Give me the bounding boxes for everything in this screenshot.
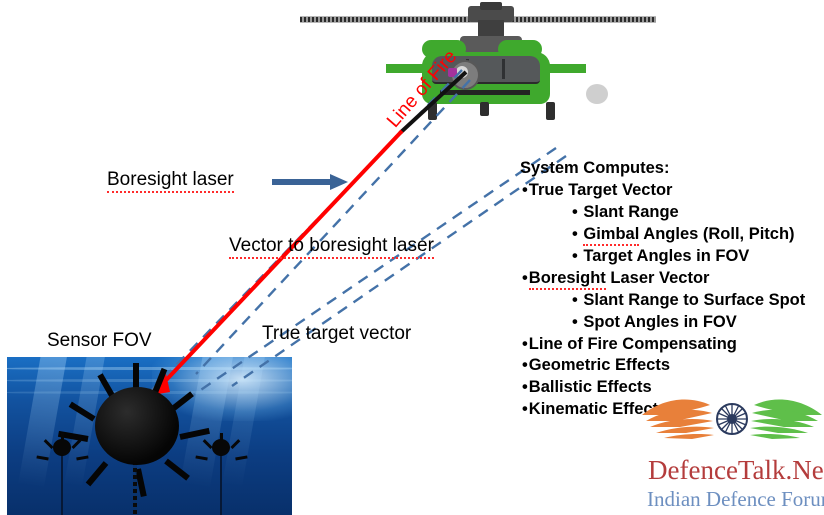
watermark-title: DefenceTalk.Net: [648, 455, 824, 486]
system-computes-item: • Target Angles in FOV: [520, 246, 824, 268]
bullet-icon: •: [522, 335, 528, 353]
fov-dashed-line-lower-far-right: [232, 156, 566, 386]
bullet-icon: •: [572, 291, 582, 309]
system-computes-item-label: Gimbal Angles (Roll, Pitch): [583, 225, 794, 246]
mine-tether: [220, 455, 222, 515]
landing-gear-right: [546, 102, 555, 120]
mine-spike: [86, 461, 109, 486]
bullet-icon: •: [572, 225, 582, 243]
system-computes-items: •True Target Vector• Slant Range• Gimbal…: [520, 180, 824, 421]
wing-left-icon: [642, 400, 714, 439]
bullet-icon: •: [522, 356, 528, 374]
bullet-icon: •: [572, 313, 582, 331]
system-computes-item: •Line of Fire Compensating: [520, 334, 824, 356]
indian-defence-forum-wings-chakra-logo: [640, 393, 824, 443]
system-computes-item-label: Geometric Effects: [529, 356, 670, 374]
landing-gear-center: [480, 102, 489, 116]
system-computes-heading: System Computes:: [520, 158, 824, 180]
system-computes-list: System Computes: •True Target Vector• Sl…: [520, 158, 824, 421]
system-computes-item: • Gimbal Angles (Roll, Pitch): [520, 224, 824, 246]
system-computes-item-label: Slant Range to Surface Spot: [583, 291, 805, 309]
bullet-icon: •: [522, 181, 528, 199]
label-sensor-fov: Sensor FOV: [47, 330, 152, 352]
watermark-subtitle: Indian Defence Forum: [647, 487, 824, 512]
system-computes-item-label: Target Angles in FOV: [583, 247, 749, 265]
system-computes-item-label: Spot Angles in FOV: [583, 313, 736, 331]
bullet-icon: •: [522, 378, 528, 396]
system-computes-item: •Boresight Laser Vector: [520, 268, 824, 290]
system-computes-item: •Geometric Effects: [520, 355, 824, 377]
ashoka-chakra-icon: [717, 404, 747, 434]
label-boresight-laser-text: Boresight laser: [107, 169, 234, 193]
water-ripple: [7, 367, 292, 370]
spellcheck-underlined-word: Gimbal: [583, 225, 639, 246]
system-computes-item: • Slant Range: [520, 202, 824, 224]
helicopter-illustration: [300, 2, 656, 124]
system-computes-item-label: Boresight Laser Vector: [529, 269, 710, 290]
system-computes-item-label: Ballistic Effects: [529, 378, 652, 396]
stub-wing-right: [548, 64, 586, 73]
label-boresight-laser: Boresight laser: [107, 169, 234, 191]
naval-mine-primary: [95, 387, 179, 465]
naval-mine-background-right: [212, 439, 230, 456]
system-computes-item-label: Slant Range: [583, 203, 678, 221]
label-vector-to-boresight-laser: Vector to boresight laser: [229, 235, 434, 257]
system-computes-item: • Slant Range to Surface Spot: [520, 290, 824, 312]
mine-tether: [61, 455, 63, 515]
naval-mine-background-left: [53, 439, 71, 456]
system-computes-item-label: Line of Fire Compensating: [529, 335, 737, 353]
landing-gear-left: [428, 102, 437, 120]
underwater-sensor-fov-photo: [7, 357, 292, 515]
bullet-icon: •: [572, 203, 582, 221]
stub-wing-left: [386, 64, 424, 73]
label-true-target-vector: True target vector: [262, 323, 411, 345]
sensor-lens: [456, 66, 468, 78]
mine-mooring-chain: [133, 461, 137, 515]
boresight-callout-arrowhead: [330, 174, 348, 190]
system-computes-item-label: True Target Vector: [529, 181, 673, 199]
nose-trim: [440, 90, 530, 95]
label-vector-to-boresight-laser-text: Vector to boresight laser: [229, 235, 434, 259]
diagram-canvas: Boresight laser Vector to boresight lase…: [0, 0, 824, 515]
spellcheck-underlined-word: Boresight: [529, 269, 606, 290]
bullet-icon: •: [572, 247, 582, 265]
bullet-icon: •: [522, 269, 528, 287]
wing-right-icon: [750, 400, 822, 439]
bullet-icon: •: [522, 400, 528, 418]
right-pod: [586, 84, 608, 104]
system-computes-item: •True Target Vector: [520, 180, 824, 202]
water-ripple: [7, 379, 292, 382]
system-computes-item: • Spot Angles in FOV: [520, 312, 824, 334]
